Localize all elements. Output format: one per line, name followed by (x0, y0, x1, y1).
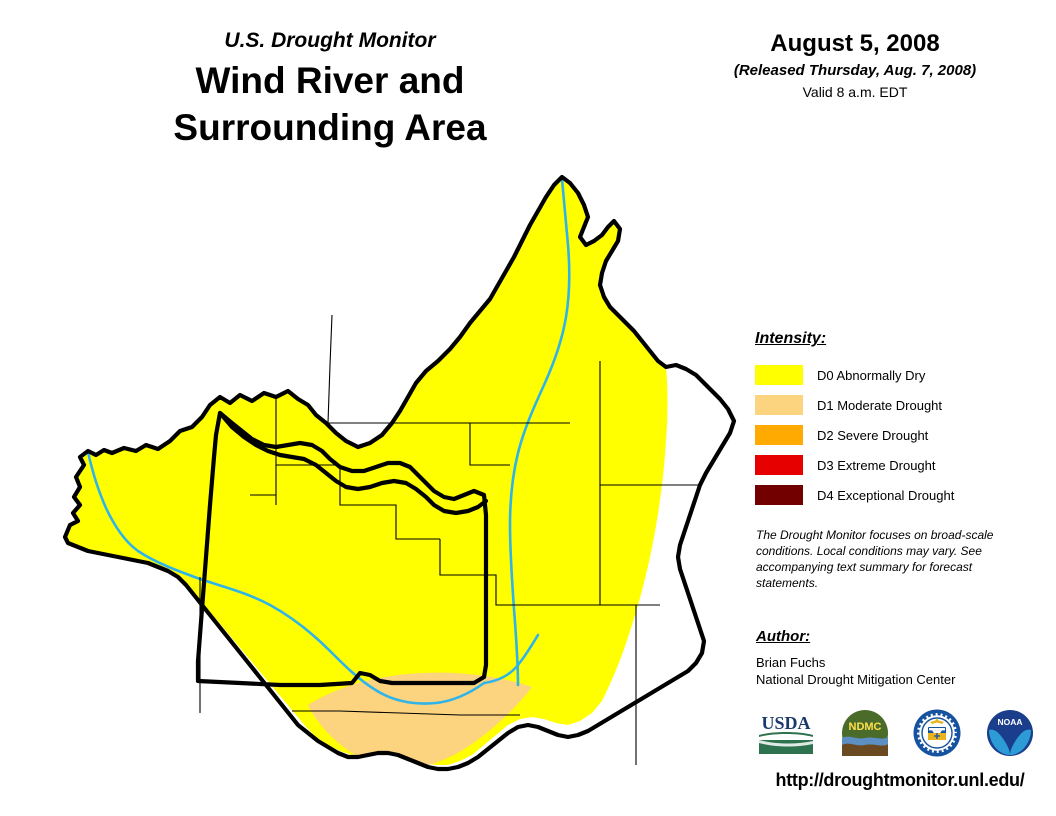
product-name: U.S. Drought Monitor (0, 28, 660, 54)
legend-swatch-d3 (755, 455, 803, 475)
legend-label-d2: D2 Severe Drought (817, 428, 928, 443)
drought-monitor-page: U.S. Drought Monitor Wind River and Surr… (0, 0, 1056, 816)
legend-label-d1: D1 Moderate Drought (817, 398, 942, 413)
noaa-logo: NOAA (985, 708, 1035, 758)
legend-swatch-d2 (755, 425, 803, 445)
author-block: Author: Brian Fuchs National Drought Mit… (756, 628, 1026, 688)
page-title: Wind River and Surrounding Area (0, 57, 660, 151)
legend-item-d3: D3 Extreme Drought (755, 450, 1025, 480)
usda-logo-text: USDA (761, 713, 810, 733)
usda-logo: USDA (755, 708, 817, 758)
legend: Intensity: D0 Abnormally Dry D1 Moderate… (755, 330, 1025, 510)
county-line-1 (328, 315, 332, 423)
logos-row: USDA NDMC (755, 705, 1035, 761)
region-title-line1: Wind River and (196, 60, 465, 101)
ndmc-logo: NDMC (840, 708, 890, 758)
legend-swatch-d1 (755, 395, 803, 415)
commerce-seal-logo (912, 708, 962, 758)
legend-label-d0: D0 Abnormally Dry (817, 368, 925, 383)
noaa-logo-text: NOAA (997, 717, 1022, 727)
release-date: (Released Thursday, Aug. 7, 2008) (690, 61, 1020, 81)
legend-item-d1: D1 Moderate Drought (755, 390, 1025, 420)
legend-heading: Intensity: (755, 330, 1025, 348)
author-heading: Author: (756, 628, 1026, 645)
ndmc-logo-text: NDMC (848, 721, 881, 733)
legend-swatch-d0 (755, 365, 803, 385)
legend-item-d0: D0 Abnormally Dry (755, 360, 1025, 390)
legend-item-d4: D4 Exceptional Drought (755, 480, 1025, 510)
author-affiliation: National Drought Mitigation Center (756, 671, 1026, 688)
legend-label-d4: D4 Exceptional Drought (817, 488, 954, 503)
map-date: August 5, 2008 (690, 30, 1020, 58)
legend-swatch-d4 (755, 485, 803, 505)
title-block: U.S. Drought Monitor Wind River and Surr… (0, 28, 660, 151)
drought-map (40, 165, 740, 805)
website-url[interactable]: http://droughtmonitor.unl.edu/ (755, 770, 1045, 791)
valid-time: Valid 8 a.m. EDT (690, 83, 1020, 102)
legend-label-d3: D3 Extreme Drought (817, 458, 936, 473)
date-block: August 5, 2008 (Released Thursday, Aug. … (690, 30, 1020, 102)
disclaimer-text: The Drought Monitor focuses on broad-sca… (756, 527, 1018, 591)
legend-item-d2: D2 Severe Drought (755, 420, 1025, 450)
author-name: Brian Fuchs (756, 654, 1026, 671)
region-title-line2: Surrounding Area (0, 104, 660, 151)
